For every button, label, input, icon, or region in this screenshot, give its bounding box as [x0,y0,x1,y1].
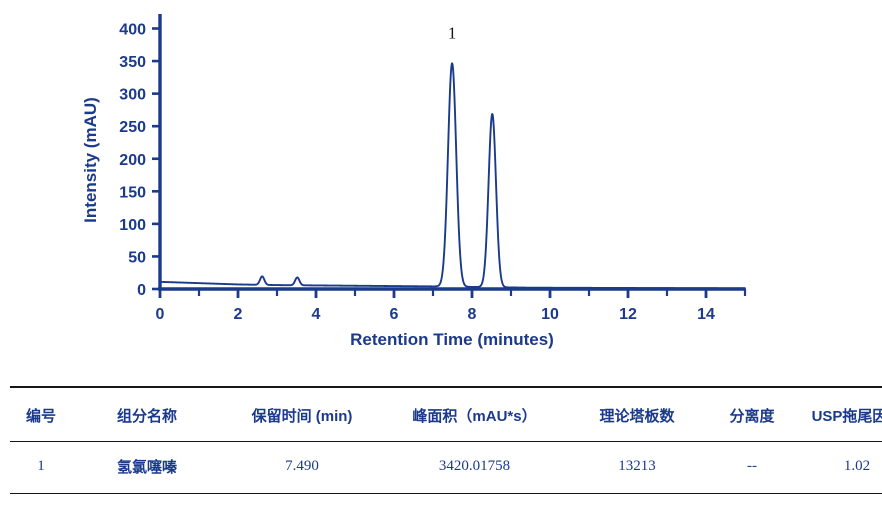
svg-text:10: 10 [541,306,559,323]
svg-text:8: 8 [468,306,477,323]
y-axis-title: Intensity (mAU) [81,97,100,223]
svg-text:2: 2 [234,306,243,323]
header-resolution: 分离度 [707,387,797,442]
svg-text:0: 0 [156,306,165,323]
cell-retention-time: 7.490 [222,442,382,494]
header-index: 编号 [10,387,72,442]
svg-text:200: 200 [119,152,146,169]
cell-name: 氢氯噻嗪 [72,442,222,494]
cell-theoretical-plates: 13213 [567,442,707,494]
chromatogram-chart: Intensity (mAU) Retention Time (minutes)… [0,0,882,372]
cell-usp-tailing: 1.02 [797,442,882,494]
svg-text:4: 4 [312,306,321,323]
peak-annotations: 1 [448,23,457,42]
cell-peak-area: 3420.01758 [382,442,567,494]
svg-text:150: 150 [119,184,146,201]
peak-results-table: 编号 组分名称 保留时间 (min) 峰面积（mAU*s） 理论塔板数 分离度 … [10,386,882,494]
svg-text:12: 12 [619,306,637,323]
chromatogram-panel: Intensity (mAU) Retention Time (minutes)… [0,0,882,372]
svg-text:350: 350 [119,54,146,71]
header-usp-tailing: USP拖尾因子 [797,387,882,442]
header-theoretical-plates: 理论塔板数 [567,387,707,442]
header-name: 组分名称 [72,387,222,442]
axis-ticks: 05010015020025030035040002468101214 [119,22,745,323]
svg-text:50: 50 [128,249,146,266]
svg-text:250: 250 [119,119,146,136]
table-row: 1 氢氯噻嗪 7.490 3420.01758 13213 -- 1.02 [10,442,882,494]
axes [158,14,745,289]
chromatogram-trace [160,63,745,288]
table-header-row: 编号 组分名称 保留时间 (min) 峰面积（mAU*s） 理论塔板数 分离度 … [10,387,882,442]
svg-text:100: 100 [119,217,146,234]
cell-resolution: -- [707,442,797,494]
header-peak-area: 峰面积（mAU*s） [382,387,567,442]
svg-text:1: 1 [448,23,457,42]
svg-text:400: 400 [119,22,146,39]
header-retention-time: 保留时间 (min) [222,387,382,442]
cell-index: 1 [10,442,72,494]
svg-text:6: 6 [390,306,399,323]
svg-text:300: 300 [119,87,146,104]
svg-text:14: 14 [697,306,715,323]
svg-text:0: 0 [137,282,146,299]
x-axis-title: Retention Time (minutes) [350,330,554,349]
